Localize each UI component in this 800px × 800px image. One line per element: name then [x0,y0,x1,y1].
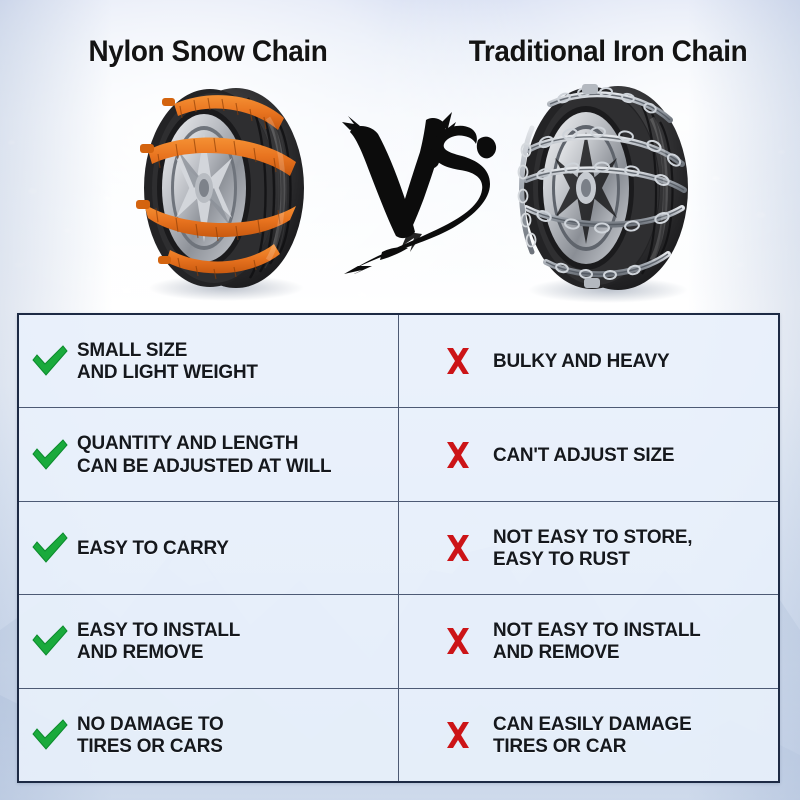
table-row: EASY TO CARRY NOT EASY TO STORE, EASY TO… [19,502,778,595]
check-icon [29,714,71,756]
feature-text: CAN'T ADJUST SIZE [493,444,674,466]
cross-icon [437,340,479,382]
check-icon [29,620,71,662]
table-row: SMALL SIZE AND LIGHT WEIGHT BULKY AND HE… [19,315,778,408]
page-title-nylon: Nylon Snow Chain [15,32,402,72]
table-cell-iron: CAN EASILY DAMAGE TIRES OR CAR [399,689,779,781]
cross-icon [437,434,479,476]
table-cell-iron: BULKY AND HEAVY [399,315,779,407]
table-cell-nylon: EASY TO CARRY [19,502,399,594]
cross-icon [437,714,479,756]
table-cell-iron: CAN'T ADJUST SIZE [399,408,779,500]
check-icon [29,527,71,569]
table-row: QUANTITY AND LENGTH CAN BE ADJUSTED AT W… [19,408,778,501]
feature-text: NOT EASY TO STORE, EASY TO RUST [493,526,692,570]
feature-text: NOT EASY TO INSTALL AND REMOVE [493,619,701,663]
feature-text: EASY TO INSTALL AND REMOVE [77,619,240,663]
feature-text: QUANTITY AND LENGTH CAN BE ADJUSTED AT W… [77,432,331,476]
table-cell-nylon: SMALL SIZE AND LIGHT WEIGHT [19,315,399,407]
feature-text: SMALL SIZE AND LIGHT WEIGHT [77,339,258,383]
feature-text: NO DAMAGE TO TIRES OR CARS [77,713,224,757]
versus-graphic [338,106,504,274]
feature-text: EASY TO CARRY [77,537,229,559]
check-icon [29,340,71,382]
page-title-iron: Traditional Iron Chain [429,32,786,72]
comparison-table: SMALL SIZE AND LIGHT WEIGHT BULKY AND HE… [17,313,780,783]
check-icon [29,434,71,476]
cross-icon [437,620,479,662]
table-cell-nylon: QUANTITY AND LENGTH CAN BE ADJUSTED AT W… [19,408,399,500]
feature-text: CAN EASILY DAMAGE TIRES OR CAR [493,713,692,757]
table-cell-iron: NOT EASY TO STORE, EASY TO RUST [399,502,779,594]
table-row: EASY TO INSTALL AND REMOVE NOT EASY TO I… [19,595,778,688]
feature-text: BULKY AND HEAVY [493,350,669,372]
infographic-canvas: Nylon Snow Chain Traditional Iron Chain [0,0,800,800]
table-cell-nylon: NO DAMAGE TO TIRES OR CARS [19,689,399,781]
cross-icon [437,527,479,569]
table-cell-iron: NOT EASY TO INSTALL AND REMOVE [399,595,779,687]
product-image-nylon-snow-chain [118,78,328,303]
product-image-iron-chain [498,76,714,304]
table-cell-nylon: EASY TO INSTALL AND REMOVE [19,595,399,687]
table-row: NO DAMAGE TO TIRES OR CARS CAN EASILY DA… [19,689,778,781]
